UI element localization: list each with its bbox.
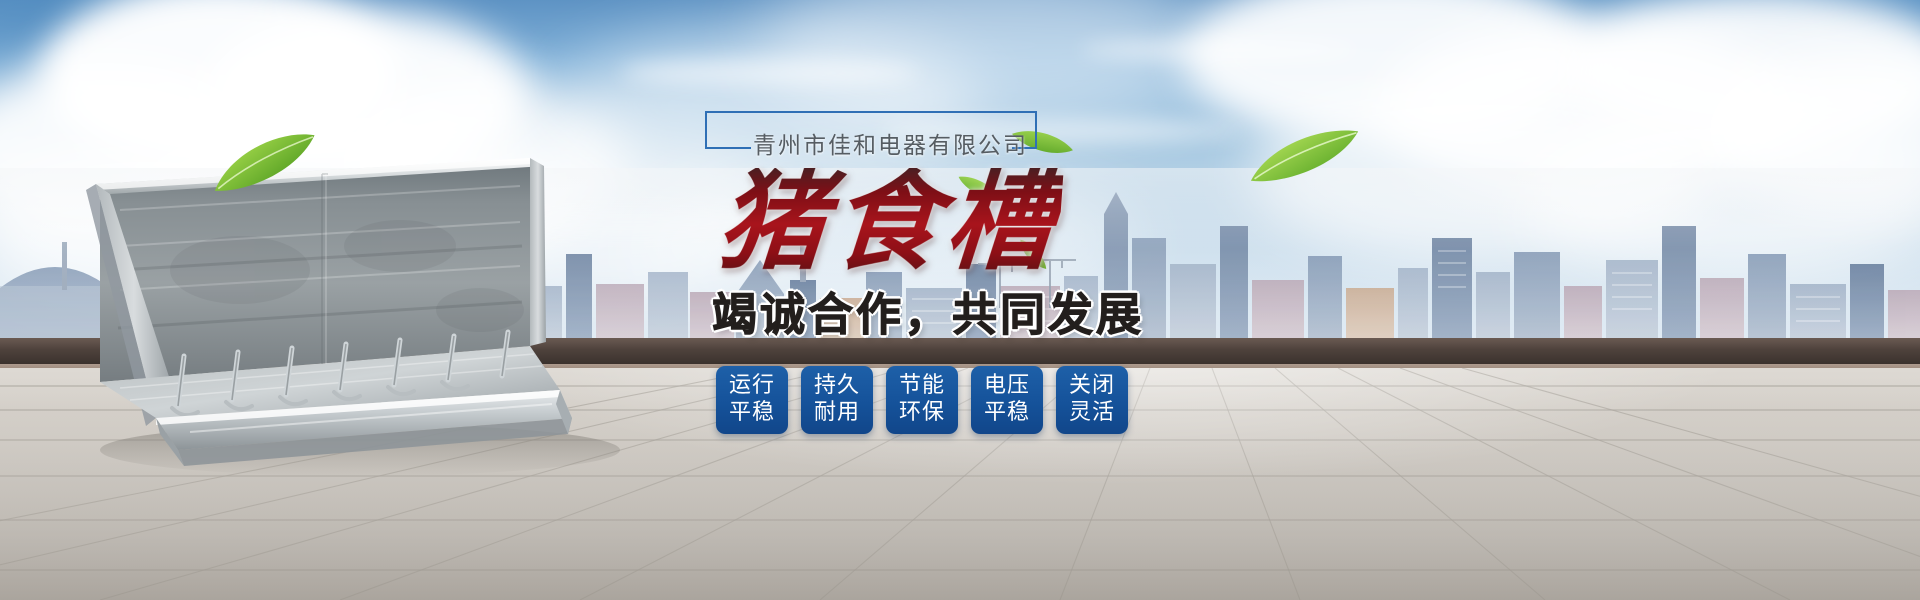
feature-tag-2[interactable]: 持久耐用 xyxy=(801,366,873,434)
feature-tag-line2: 灵活 xyxy=(1069,400,1115,427)
feature-tag-list: 运行平稳持久耐用节能环保电压平稳关闭灵活 xyxy=(716,366,1128,434)
feature-tag-line2: 耐用 xyxy=(814,400,860,427)
feature-tag-line2: 平稳 xyxy=(984,400,1030,427)
feature-tag-line2: 平稳 xyxy=(729,400,775,427)
feature-tag-line1: 持久 xyxy=(814,373,860,400)
feature-tag-line1: 关闭 xyxy=(1069,373,1115,400)
product-image-pig-feeding-trough xyxy=(60,150,660,490)
cloud-streak xyxy=(620,60,920,86)
feature-tag-line1: 运行 xyxy=(729,373,775,400)
feature-tag-3[interactable]: 节能环保 xyxy=(886,366,958,434)
feature-tag-line1: 节能 xyxy=(899,373,945,400)
feature-tag-line2: 环保 xyxy=(899,400,945,427)
feature-tag-line1: 电压 xyxy=(984,373,1030,400)
promo-banner: 青州市佳和电器有限公司 猪食槽 猪食槽 竭诚合作，共同发展 运行平稳持久耐用节能… xyxy=(0,0,1920,600)
feature-tag-1[interactable]: 运行平稳 xyxy=(716,366,788,434)
cloud-streak xyxy=(1080,40,1360,60)
feature-tag-4[interactable]: 电压平稳 xyxy=(971,366,1043,434)
feature-tag-5[interactable]: 关闭灵活 xyxy=(1056,366,1128,434)
